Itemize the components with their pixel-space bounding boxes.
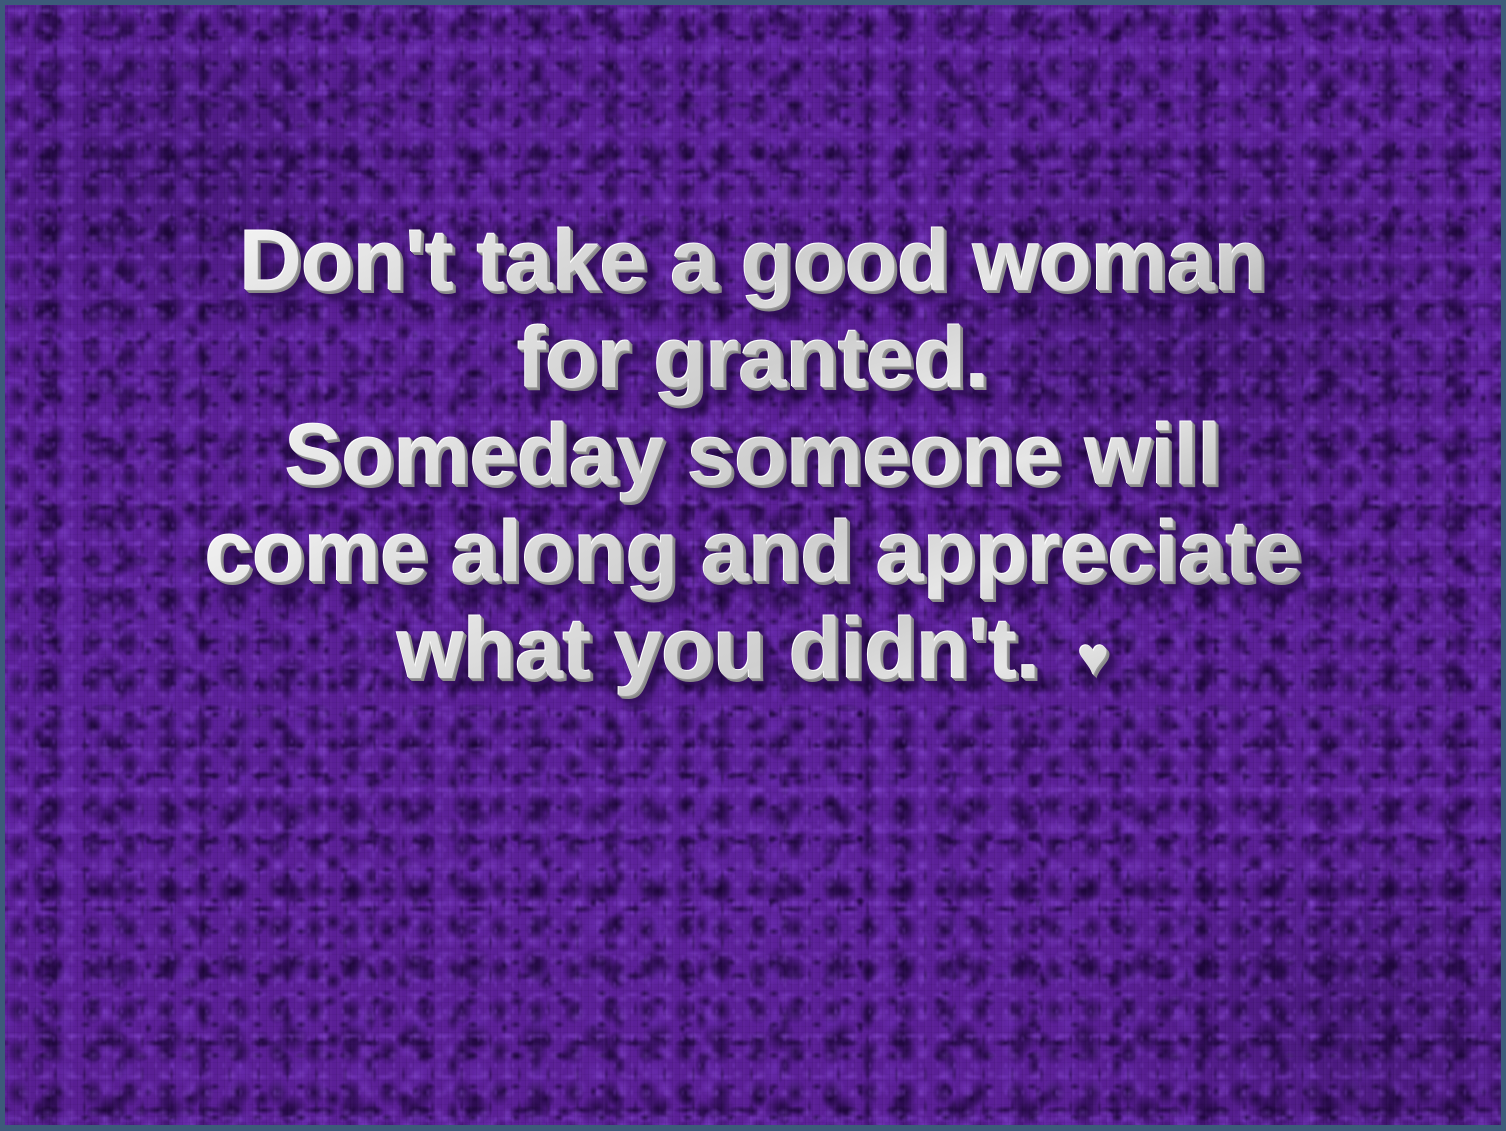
quote-text-block: Don't take a good woman for granted. Som… [5,213,1501,706]
quote-line-1: Don't take a good woman [5,213,1501,310]
heart-icon: ♥ [1078,628,1110,687]
quote-image: Don't take a good woman for granted. Som… [0,0,1506,1131]
quote-line-3: Someday someone will [5,407,1501,504]
quote-line-5: what you didn't. ♥ [5,601,1501,706]
quote-line-4: come along and appreciate [5,504,1501,601]
textured-background: Don't take a good woman for granted. Som… [5,5,1501,1125]
quote-line-2: for granted. [5,310,1501,407]
quote-line-5-text: what you didn't. [397,601,1040,697]
